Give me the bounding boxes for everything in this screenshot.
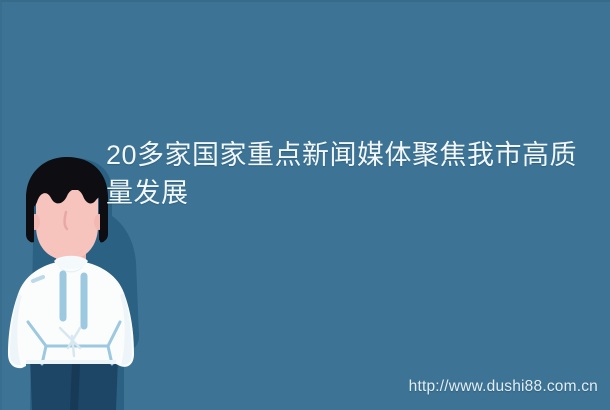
hoodie-hem [26,360,116,364]
news-thumbnail-card: 20多家国家重点新闻媒体聚焦我市高质量发展 http://www.dushi88… [0,0,610,410]
page-title: 20多家国家重点新闻媒体聚焦我市高质量发展 [106,136,584,212]
pants [30,358,118,410]
watermark-url: http://www.dushi88.com.cn [409,378,598,396]
